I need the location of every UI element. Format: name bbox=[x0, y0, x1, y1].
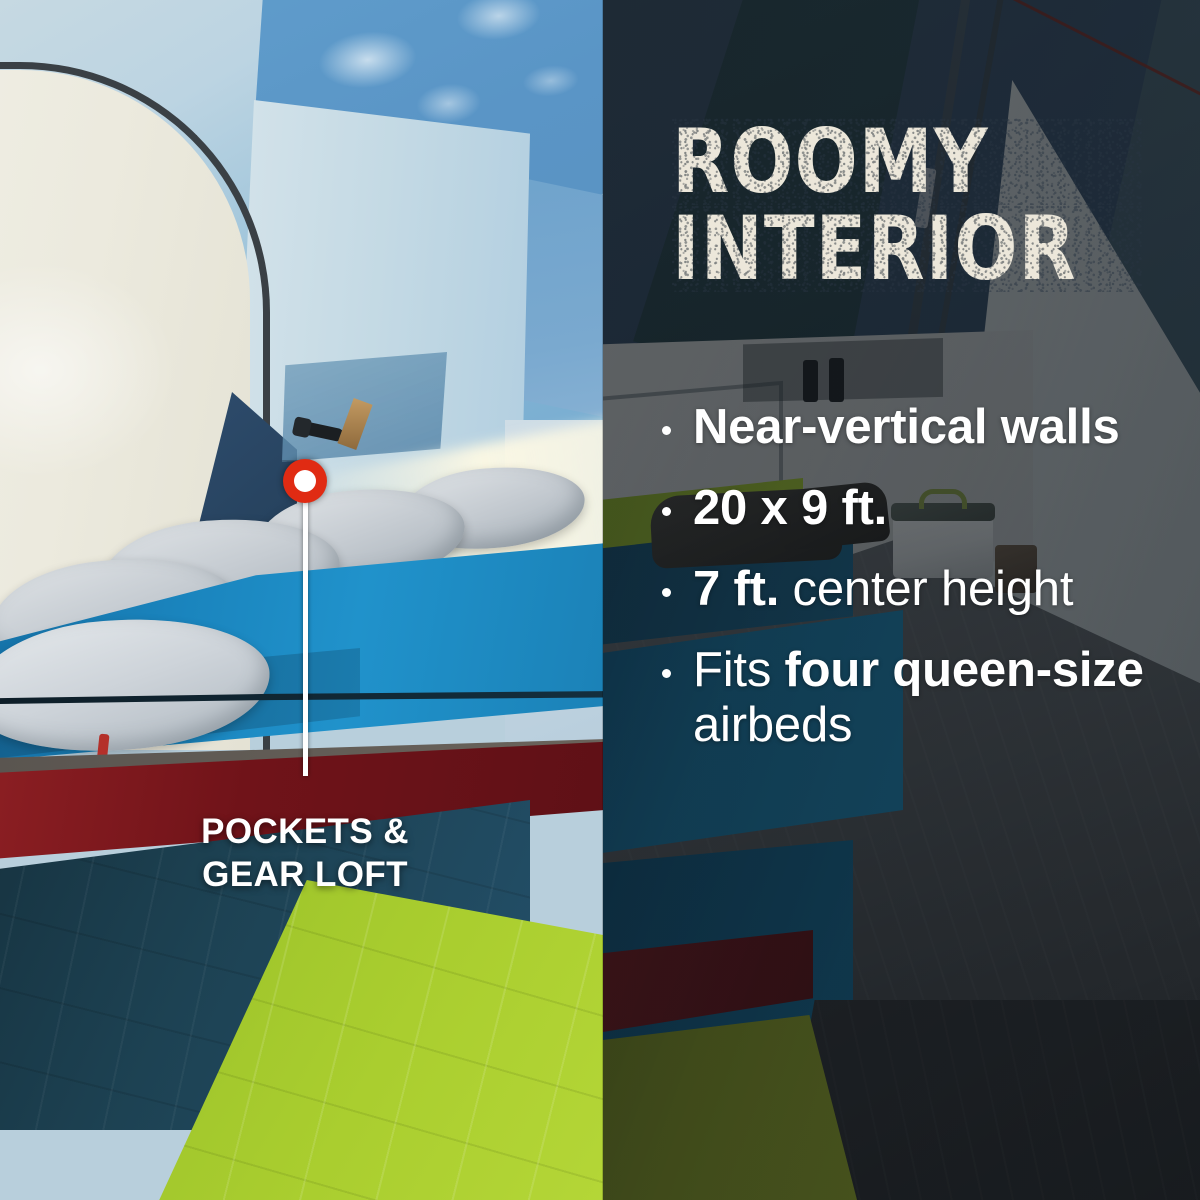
bullet-dot-icon bbox=[662, 507, 671, 516]
callout-label-line-1: POCKETS & bbox=[40, 810, 570, 853]
headline-line-1: ROOMY bbox=[672, 118, 1142, 205]
bullet-text-regular: center height bbox=[779, 562, 1073, 616]
bullet-text-bold: Near-vertical walls bbox=[693, 400, 1120, 454]
bullet-dot-icon bbox=[662, 588, 671, 597]
feature-bullet: Near-vertical walls bbox=[662, 400, 1182, 455]
feature-bullet-text: 7 ft. center height bbox=[693, 562, 1073, 617]
callout-marker-icon[interactable] bbox=[283, 459, 327, 503]
feature-bullet-text: Fits four queen-size airbeds bbox=[693, 643, 1182, 753]
bullet-text-regular: Fits bbox=[693, 643, 785, 697]
panel-divider bbox=[602, 0, 603, 1200]
callout-label-line-2: GEAR LOFT bbox=[40, 853, 570, 896]
feature-bullet: 7 ft. center height bbox=[662, 562, 1182, 617]
left-tent-photo: POCKETS & GEAR LOFT bbox=[0, 0, 603, 1200]
product-feature-graphic: POCKETS & GEAR LOFT bbox=[0, 0, 1200, 1200]
feature-bullet-text: 20 x 9 ft. bbox=[693, 481, 887, 536]
headline: ROOMY INTERIOR bbox=[672, 118, 1142, 292]
bullet-text-bold: 20 x 9 ft. bbox=[693, 481, 887, 535]
bullet-text-bold: 7 ft. bbox=[693, 562, 779, 616]
callout-label: POCKETS & GEAR LOFT bbox=[40, 810, 570, 897]
callout-leader-line bbox=[303, 498, 308, 776]
bullet-dot-icon bbox=[662, 426, 671, 435]
feature-bullet: 20 x 9 ft. bbox=[662, 481, 1182, 536]
feature-bullet-text: Near-vertical walls bbox=[693, 400, 1120, 455]
headline-line-2: INTERIOR bbox=[672, 205, 1142, 292]
bullet-text-bold: four queen-size bbox=[785, 643, 1144, 697]
bullet-dot-icon bbox=[662, 669, 671, 678]
feature-bullet-list: Near-vertical walls20 x 9 ft.7 ft. cente… bbox=[662, 400, 1182, 778]
feature-bullet: Fits four queen-size airbeds bbox=[662, 643, 1182, 753]
callout-marker-center bbox=[294, 470, 316, 492]
bullet-text-regular: airbeds bbox=[693, 698, 852, 752]
